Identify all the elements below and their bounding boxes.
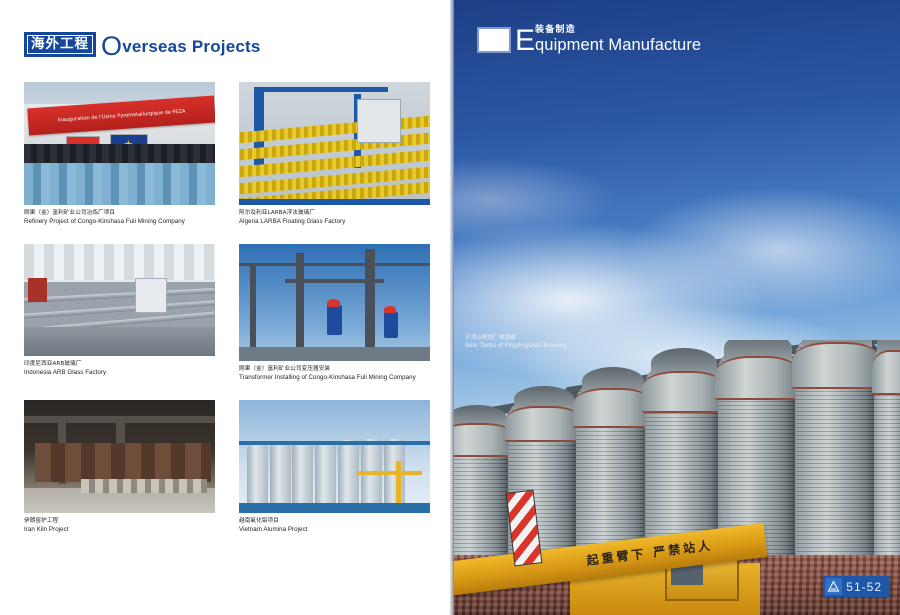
project-photo-algeria-glass [239, 82, 430, 205]
section-en-initial: E [515, 28, 535, 54]
section-cn-badge: 海外工程 [24, 32, 96, 57]
section-en-title: O verseas Projects [101, 31, 261, 57]
caption-cn: 越南氧化铝项目 [239, 518, 430, 525]
beer-tanks-caption: 平顶山啤酒厂啤酒罐 Beer Tanks of Pingdingshan Bre… [465, 333, 566, 349]
project-card: 阿尔及利亚LARBA浮法玻璃厂 Algeria LARBA Floating G… [239, 82, 430, 226]
project-photo-indonesia-glass [24, 244, 215, 356]
project-caption: 刚果（金）富利矿业公司冶炼厂项目 Refinery Project of Con… [24, 210, 215, 226]
project-card: 伊朗窑炉工程 Iran Kiln Project [24, 400, 215, 534]
caption-cn: 刚果（金）富利矿业公司变压器安装 [239, 366, 430, 373]
project-photo-congo-transformer [239, 244, 430, 361]
project-caption: 阿尔及利亚LARBA浮法玻璃厂 Algeria LARBA Floating G… [239, 210, 430, 226]
project-caption: 刚果（金）富利矿业公司变压器安装 Transformer Installing … [239, 366, 430, 382]
project-caption: 印度尼西亚ARB玻璃厂 Indonesia ARB Glass Factory [24, 361, 215, 377]
page-gutter [450, 0, 454, 615]
right-page: E 装备制造 quipment Manufacture 平顶山啤酒厂啤酒罐 Be… [450, 0, 900, 615]
section-cn-label: 海外工程 [27, 35, 93, 54]
section-en-rest: verseas Projects [122, 37, 260, 57]
projects-row: 印度尼西亚ARB玻璃厂 Indonesia ARB Glass Factory [24, 244, 430, 382]
beer-tanks-photo: 起重臂下 严禁站人 [450, 340, 900, 615]
projects-grid: Inauguration de l'Usine Pyrometallurgiqu… [24, 82, 430, 534]
caption-cn: 刚果（金）富利矿业公司冶炼厂项目 [24, 210, 215, 217]
page-number: 51-52 [846, 580, 888, 594]
project-photo-vietnam-alumina [239, 400, 430, 513]
section-en-initial: O [101, 34, 122, 58]
overseas-projects-heading: 海外工程 O verseas Projects [24, 28, 261, 60]
section-white-box-icon [477, 27, 511, 53]
company-logo-icon [825, 578, 842, 595]
caption-en: Iran Kiln Project [24, 526, 215, 534]
caption-en: Beer Tanks of Pingdingshan Brewery [465, 342, 566, 349]
brochure-spread: 海外工程 O verseas Projects Inauguration de … [0, 0, 900, 615]
project-caption: 越南氧化铝项目 Vietnam Alumina Project [239, 518, 430, 534]
project-card: 刚果（金）富利矿业公司变压器安装 Transformer Installing … [239, 244, 430, 382]
caption-cn: 伊朗窑炉工程 [24, 518, 215, 525]
equipment-manufacture-heading: E 装备制造 quipment Manufacture [477, 26, 701, 54]
caption-en: Vietnam Alumina Project [239, 526, 430, 534]
project-card: 印度尼西亚ARB玻璃厂 Indonesia ARB Glass Factory [24, 244, 215, 382]
caption-cn: 平顶山啤酒厂啤酒罐 [465, 333, 566, 341]
section-en-rest: quipment Manufacture [535, 37, 701, 54]
caption-en: Indonesia ARB Glass Factory [24, 369, 215, 377]
project-caption: 伊朗窑炉工程 Iran Kiln Project [24, 518, 215, 534]
caption-en: Algeria LARBA Floating Glass Factory [239, 218, 430, 226]
projects-row: 伊朗窑炉工程 Iran Kiln Project [24, 400, 430, 534]
caption-cn: 印度尼西亚ARB玻璃厂 [24, 361, 215, 368]
projects-row: Inauguration de l'Usine Pyrometallurgiqu… [24, 82, 430, 226]
project-card: Inauguration de l'Usine Pyrometallurgiqu… [24, 82, 215, 226]
page-number-badge: 51-52 [823, 576, 890, 597]
caption-cn: 阿尔及利亚LARBA浮法玻璃厂 [239, 210, 430, 217]
project-card: 越南氧化铝项目 Vietnam Alumina Project [239, 400, 430, 534]
caption-en: Transformer Installing of Congo-Kinshasa… [239, 374, 430, 382]
project-photo-congo-refinery: Inauguration de l'Usine Pyrometallurgiqu… [24, 82, 215, 205]
caption-en: Refinery Project of Congo-Kinshasa Fuli … [24, 218, 215, 226]
section-cn-label: 装备制造 [535, 26, 701, 35]
left-page: 海外工程 O verseas Projects Inauguration de … [0, 0, 450, 615]
project-photo-iran-kiln [24, 400, 215, 513]
section-title-group: E 装备制造 quipment Manufacture [515, 26, 701, 54]
